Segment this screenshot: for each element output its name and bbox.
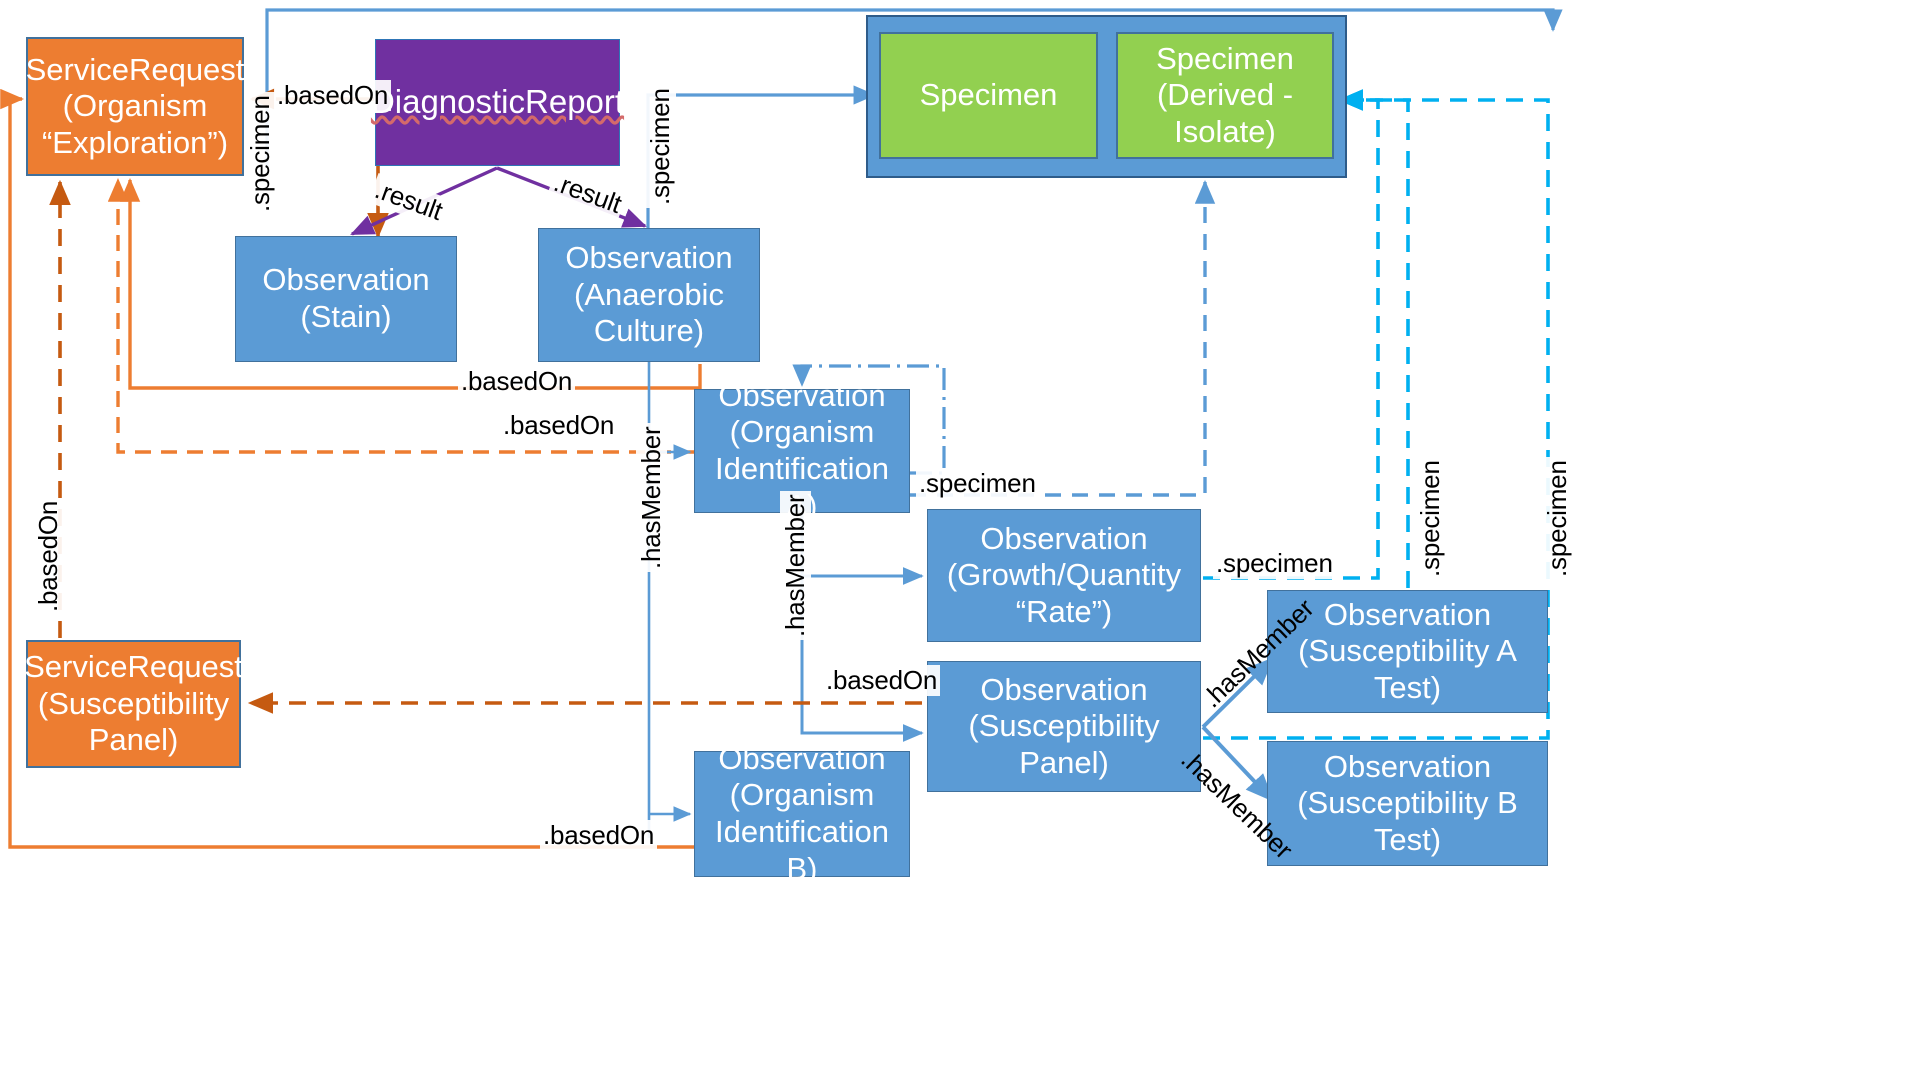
node-observation-growth-quantity-rate[interactable]: Observation (Growth/Quantity “Rate”) [927, 509, 1201, 642]
node-observation-organism-identification-b[interactable]: Observation (Organism Identification B) [694, 751, 910, 877]
node-line-3: Test) [1291, 822, 1524, 859]
node-line-2: (Susceptibility A [1292, 633, 1523, 670]
edge-orgida-hasmember-suscpanel [802, 513, 922, 733]
node-line-2: (Organism [20, 88, 251, 125]
edge-susca-specimen-derived [1340, 100, 1408, 588]
edge-label-basedon-left-vert: .basedOn [33, 498, 64, 615]
edge-label-result-right: .result [547, 166, 628, 221]
node-line-1: Observation [559, 240, 738, 277]
node-specimen[interactable]: Specimen [879, 32, 1098, 159]
edge-label-specimen-growth: .specimen [1213, 548, 1336, 579]
edge-label-specimen-dr: .specimen [645, 85, 676, 208]
edge-label-basedon-orgida: .basedOn [500, 410, 617, 441]
edge-label-hasmember-main: .hasMember [636, 424, 667, 573]
node-diagnosticreport[interactable]: DiagnosticReport [375, 39, 620, 166]
node-line-1: ServiceRequest [20, 52, 251, 89]
node-observation-stain[interactable]: Observation (Stain) [235, 236, 457, 362]
node-line-3: Test) [1292, 670, 1523, 707]
node-line-1: Observation [1292, 597, 1523, 634]
node-line-3: “Exploration”) [20, 125, 251, 162]
edge-label-specimen-anaerobic: .specimen [245, 92, 276, 215]
node-line-2: (Anaerobic [559, 277, 738, 314]
node-observation-susceptibility-panel[interactable]: Observation (Susceptibility Panel) [927, 661, 1201, 792]
node-line-2: (Susceptibility [18, 686, 249, 723]
node-line-3: Panel) [18, 722, 249, 759]
node-line-2: (Organism [701, 414, 903, 451]
node-line-2: (Susceptibility [962, 708, 1165, 745]
edge-label-basedon-dr: .basedOn [274, 80, 391, 111]
node-line-2: (Stain) [256, 299, 435, 336]
node-line-2: (Susceptibility B [1291, 785, 1524, 822]
node-line-3: Culture) [559, 313, 738, 350]
node-servicerequest-susceptibility-panel[interactable]: ServiceRequest (Susceptibility Panel) [26, 640, 241, 768]
node-line-1: DiagnosticReport [365, 83, 630, 122]
edge-label-hasmember-orgida: .hasMember [780, 492, 811, 641]
node-line-2: (Organism [701, 777, 903, 814]
node-servicerequest-organism[interactable]: ServiceRequest (Organism “Exploration”) [26, 37, 244, 176]
edge-orgida-specimen-derived [910, 182, 1205, 495]
node-line-1: Observation [962, 672, 1165, 709]
node-line-2: (Derived - Isolate) [1124, 77, 1326, 150]
edge-label-specimen-orgida: .specimen [916, 468, 1039, 499]
node-line-3: “Rate”) [941, 594, 1187, 631]
edge-anaerobic-specimen [648, 95, 874, 228]
edge-label-specimen-suscb: .specimen [1542, 457, 1573, 580]
node-line-1: Observation [701, 741, 903, 778]
edge-label-specimen-susca: .specimen [1415, 457, 1446, 580]
node-line-1: Observation [701, 378, 903, 415]
node-specimen-derived-isolate[interactable]: Specimen (Derived - Isolate) [1116, 32, 1334, 159]
edge-label-basedon-anaerobic: .basedOn [458, 366, 575, 397]
diagram-canvas: ServiceRequest (Organism “Exploration”) … [0, 0, 1916, 1077]
node-line-3: Panel) [962, 745, 1165, 782]
edge-label-result-left: .result [368, 173, 449, 228]
node-line-1: Observation [1291, 749, 1524, 786]
edge-label-basedon-suscpanel: .basedOn [823, 665, 940, 696]
node-line-3: Identification B) [701, 814, 903, 887]
node-line-2: (Growth/Quantity [941, 557, 1187, 594]
node-line-1: Specimen [1124, 41, 1326, 78]
node-line-1: Observation [256, 262, 435, 299]
node-line-1: Observation [941, 521, 1187, 558]
node-line-1: Specimen [914, 77, 1064, 114]
node-observation-anaerobic-culture[interactable]: Observation (Anaerobic Culture) [538, 228, 760, 362]
edge-label-basedon-orgidb: .basedOn [540, 820, 657, 851]
node-line-1: ServiceRequest [18, 649, 249, 686]
node-observation-susceptibility-b-test[interactable]: Observation (Susceptibility B Test) [1267, 741, 1548, 866]
